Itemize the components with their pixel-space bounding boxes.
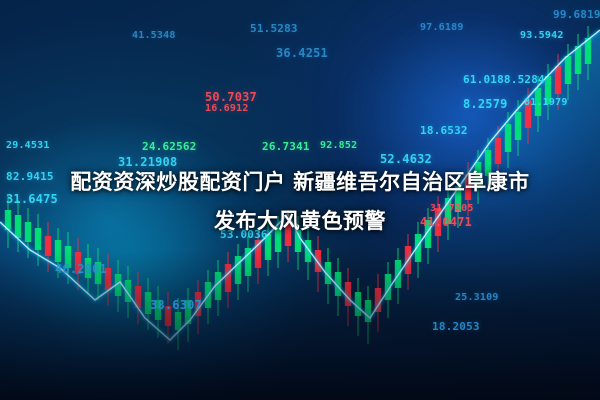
price-label: 26.7341 — [262, 140, 310, 153]
price-label: 8.2579 — [463, 97, 508, 111]
screenshot-root: 93.594261.0188.52848.257981.197918.65325… — [0, 0, 600, 400]
price-label: 29.4531 — [6, 140, 50, 151]
headline-line-1: 配资资深炒股配资门户 新疆维吾尔自治区阜康市 — [70, 170, 529, 194]
price-label: 50.7037 — [205, 90, 257, 104]
price-label: 16.6912 — [205, 103, 249, 114]
price-label: 46.2901 — [55, 262, 107, 276]
price-label: 81.1979 — [524, 97, 568, 108]
price-label: 18.6532 — [420, 124, 468, 137]
price-label: 25.3109 — [455, 292, 499, 303]
price-label: 38.6307 — [150, 298, 202, 312]
price-label: 51.5283 — [250, 22, 298, 35]
price-label: 99.6819 — [553, 8, 600, 21]
price-label: 61.0188.5284 — [463, 73, 545, 86]
price-label: 97.6189 — [420, 22, 464, 33]
price-label: 92.852 — [320, 140, 357, 151]
price-label: 24.62562 — [142, 140, 197, 153]
price-label: 36.4251 — [276, 46, 328, 60]
headline-line-2: 发布大风黄色预警 — [0, 202, 600, 241]
price-label: 93.5942 — [520, 30, 564, 41]
headline-text: 配资资深炒股配资门户 新疆维吾尔自治区阜康市 发布大风黄色预警 — [0, 163, 600, 241]
price-label: 18.2053 — [432, 320, 480, 333]
price-label: 41.5348 — [132, 30, 176, 41]
